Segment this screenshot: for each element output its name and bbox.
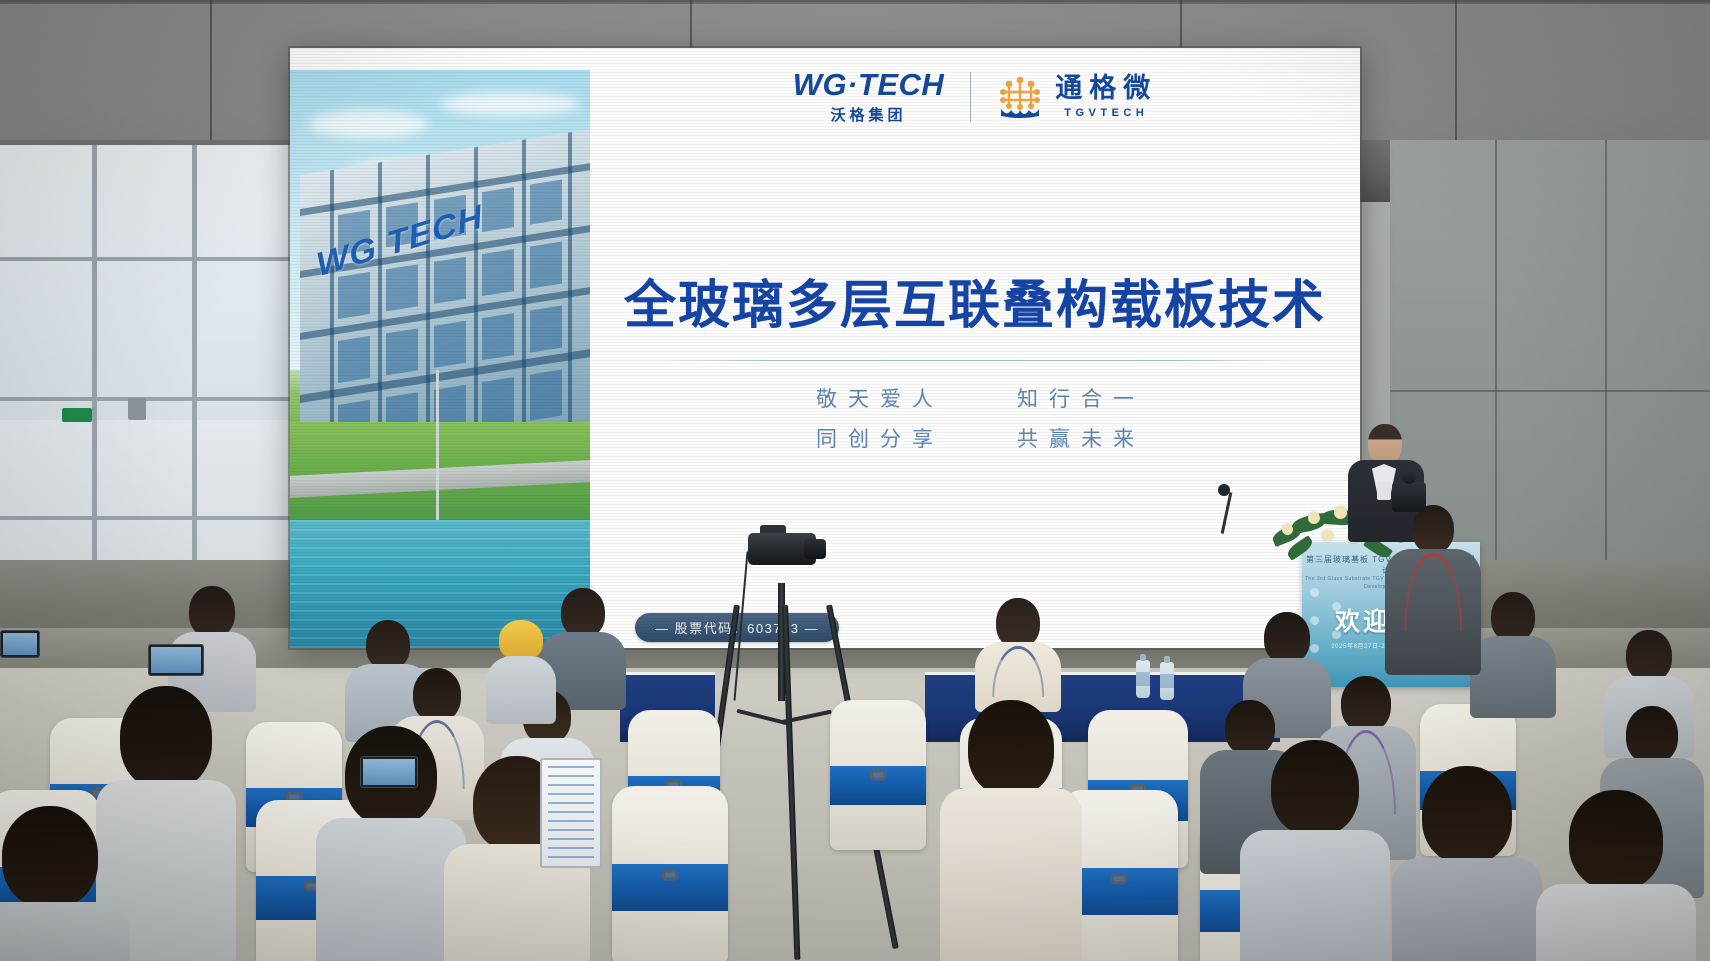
- window-mullion: [0, 257, 295, 261]
- window-mullion: [0, 397, 295, 401]
- wg-tech-chinese-name: 沃格集团: [830, 104, 906, 125]
- chair: [612, 786, 728, 961]
- chair-buckle: [662, 870, 678, 881]
- tgv-tech-logo: 通格微 TGVTECH: [997, 75, 1157, 119]
- laptop: [540, 758, 602, 868]
- wall-panel-seam: [1605, 140, 1607, 620]
- audience-person-foreground: [940, 700, 1082, 960]
- motto-row: 同创分享 共赢未来: [805, 423, 1145, 453]
- tgv-english-name: TGVTECH: [1064, 107, 1148, 119]
- photo-light-pole: [436, 370, 439, 520]
- motto-row: 敬天爱人 知行合一: [805, 383, 1145, 413]
- window-mullion: [0, 516, 295, 520]
- photo-cloud: [440, 92, 580, 116]
- chair-buckle: [870, 770, 886, 781]
- handheld-camera: [1392, 482, 1426, 512]
- photo-cloud: [308, 110, 428, 138]
- tgv-tech-name: 通格微 TGVTECH: [1055, 75, 1157, 119]
- audience-person: [1470, 592, 1556, 714]
- water-bottle: [1160, 662, 1174, 700]
- audience-person-with-cap: [486, 620, 556, 720]
- slide-divider-rule: [645, 360, 1305, 361]
- motto-right-1: 知行合一: [1006, 383, 1145, 413]
- motto-left-2: 同创分享: [805, 423, 944, 453]
- smartphone: [0, 630, 40, 658]
- audience-person-foreground: [1392, 766, 1542, 961]
- audience-person: [975, 598, 1061, 708]
- chair-buckle: [1111, 874, 1127, 885]
- water-bottle: [1136, 660, 1150, 698]
- audience-person-foreground: [0, 806, 130, 961]
- logo-divider: [970, 72, 971, 122]
- videographer-person: [1385, 505, 1481, 675]
- slide-title: 全玻璃多层互联叠构载板技术: [590, 263, 1360, 338]
- slide-motto-block: 敬天爱人 知行合一 同创分享 共赢未来: [590, 383, 1360, 453]
- camera-flash-icon: [1402, 470, 1416, 484]
- conference-hall-photo: WG TECH WG·TECH 沃格集团: [0, 0, 1710, 961]
- slide-building-photo: WG TECH: [290, 70, 590, 648]
- smartphone: [148, 644, 204, 676]
- speaker-name-badge: [1377, 482, 1391, 500]
- wall-panel-seam: [1495, 140, 1497, 620]
- slide-logo-header: WG·TECH 沃格集团: [590, 62, 1360, 132]
- motto-left-1: 敬天爱人: [805, 383, 944, 413]
- audience-person-foreground: [1240, 740, 1390, 961]
- audience-person-foreground: [1536, 790, 1696, 961]
- ceiling-seam: [0, 2, 1710, 4]
- exit-sign: [62, 408, 92, 422]
- yellow-cap: [499, 620, 543, 660]
- laptop-screen: [548, 766, 594, 860]
- tgv-chinese-name: 通格微: [1055, 75, 1157, 102]
- speaker-head: [1368, 424, 1402, 464]
- smartphone: [360, 756, 418, 788]
- chair: [830, 700, 926, 850]
- tgv-glass-via-icon: [997, 75, 1043, 119]
- wg-tech-wordmark: WG·TECH: [793, 69, 945, 100]
- ceiling-seam: [210, 0, 212, 140]
- motto-right-2: 共赢未来: [1006, 423, 1145, 453]
- tripod-leg: [782, 605, 800, 960]
- wall-panel-seam: [1390, 390, 1710, 392]
- camera-lens-icon: [804, 539, 826, 559]
- wg-tech-logo: WG·TECH 沃格集团: [793, 69, 945, 125]
- wall-speaker-icon: [128, 398, 146, 420]
